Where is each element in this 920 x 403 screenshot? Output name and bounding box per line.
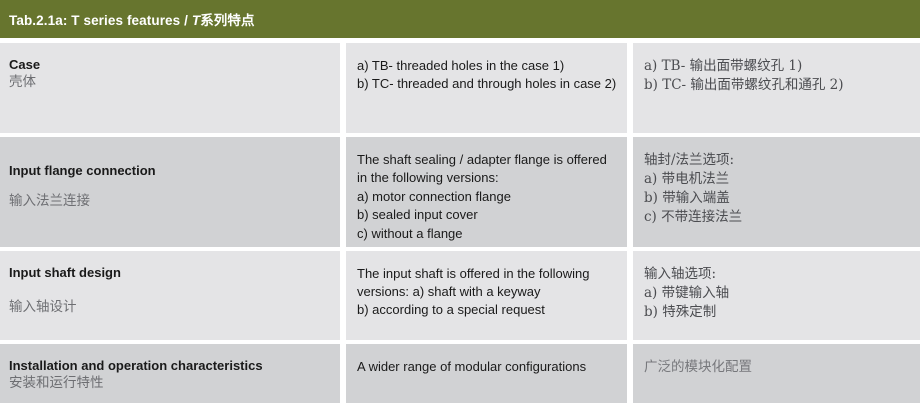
table-row: Input shaft design 输入轴设计 The input shaft… (0, 251, 920, 340)
table-caption-prefix: Tab.2.1a: T series features / (9, 13, 192, 28)
row-body-en-options: a) motor connection flange b) sealed inp… (357, 188, 617, 243)
row-english-cell-input-shaft-design: The input shaft is offered in the follow… (346, 251, 627, 340)
row-label-en: Case (9, 57, 330, 73)
row-body-en-indented: b) according to a special request (357, 301, 617, 319)
row-label-cell-installation-and-operation-characteristics: Installation and operation characteristi… (0, 344, 340, 403)
row-label-cn: 输入轴设计 (9, 299, 330, 317)
row-chinese-cell-installation-and-operation-characteristics: 广泛的模块化配置 (633, 344, 920, 403)
row-label-cell-case: Case 壳体 (0, 43, 340, 133)
row-chinese-cell-input-shaft-design: 输入轴选项: a) 带键输入轴 b) 特殊定制 (633, 251, 920, 340)
row-body-cn: 输入轴选项: a) 带键输入轴 b) 特殊定制 (644, 265, 910, 322)
table-row: Installation and operation characteristi… (0, 344, 920, 403)
row-label-cn: 壳体 (9, 74, 330, 92)
table-row: Case 壳体 a) TB- threaded holes in the cas… (0, 43, 920, 133)
row-body-cn: 广泛的模块化配置 (644, 358, 910, 377)
row-english-cell-case: a) TB- threaded holes in the case 1) b) … (346, 43, 627, 133)
row-body-en: A wider range of modular configurations (357, 358, 617, 376)
table-caption-chinese: 系列特点 (200, 13, 254, 29)
table-caption-series-letter: T (192, 13, 200, 28)
row-english-cell-installation-and-operation-characteristics: A wider range of modular configurations (346, 344, 627, 403)
row-label-cell-input-shaft-design: Input shaft design 输入轴设计 (0, 251, 340, 340)
row-body-cn: 轴封/法兰选项: a) 带电机法兰 b) 带输入端盖 c) 不带连接法兰 (644, 151, 910, 228)
row-english-cell-input-flange-connection: The shaft sealing / adapter flange is of… (346, 137, 627, 247)
row-label-en: Input flange connection (9, 163, 330, 179)
row-label-cell-input-flange-connection: Input flange connection 输入法兰连接 (0, 137, 340, 247)
row-body-en-intro: The shaft sealing / adapter flange is of… (357, 151, 617, 188)
row-body-cn: a) TB- 输出面带螺纹孔 1) b) TC- 输出面带螺纹孔和通孔 2) (644, 57, 910, 95)
row-label-en: Installation and operation characteristi… (9, 358, 330, 374)
row-body-en-main: The input shaft is offered in the follow… (357, 265, 617, 301)
row-label-cn: 输入法兰连接 (9, 193, 330, 211)
table-caption-bar: Tab.2.1a: T series features / T系列特点 (0, 0, 920, 38)
row-body-en: a) TB- threaded holes in the case 1) b) … (357, 57, 617, 94)
table-caption: Tab.2.1a: T series features / T系列特点 (9, 9, 255, 29)
features-table: Tab.2.1a: T series features / T系列特点 Case… (0, 0, 920, 403)
table-row: Input flange connection 输入法兰连接 The shaft… (0, 137, 920, 247)
row-chinese-cell-case: a) TB- 输出面带螺纹孔 1) b) TC- 输出面带螺纹孔和通孔 2) (633, 43, 920, 133)
row-label-cn: 安装和运行特性 (9, 375, 330, 393)
row-label-en: Input shaft design (9, 265, 330, 281)
row-chinese-cell-input-flange-connection: 轴封/法兰选项: a) 带电机法兰 b) 带输入端盖 c) 不带连接法兰 (633, 137, 920, 247)
